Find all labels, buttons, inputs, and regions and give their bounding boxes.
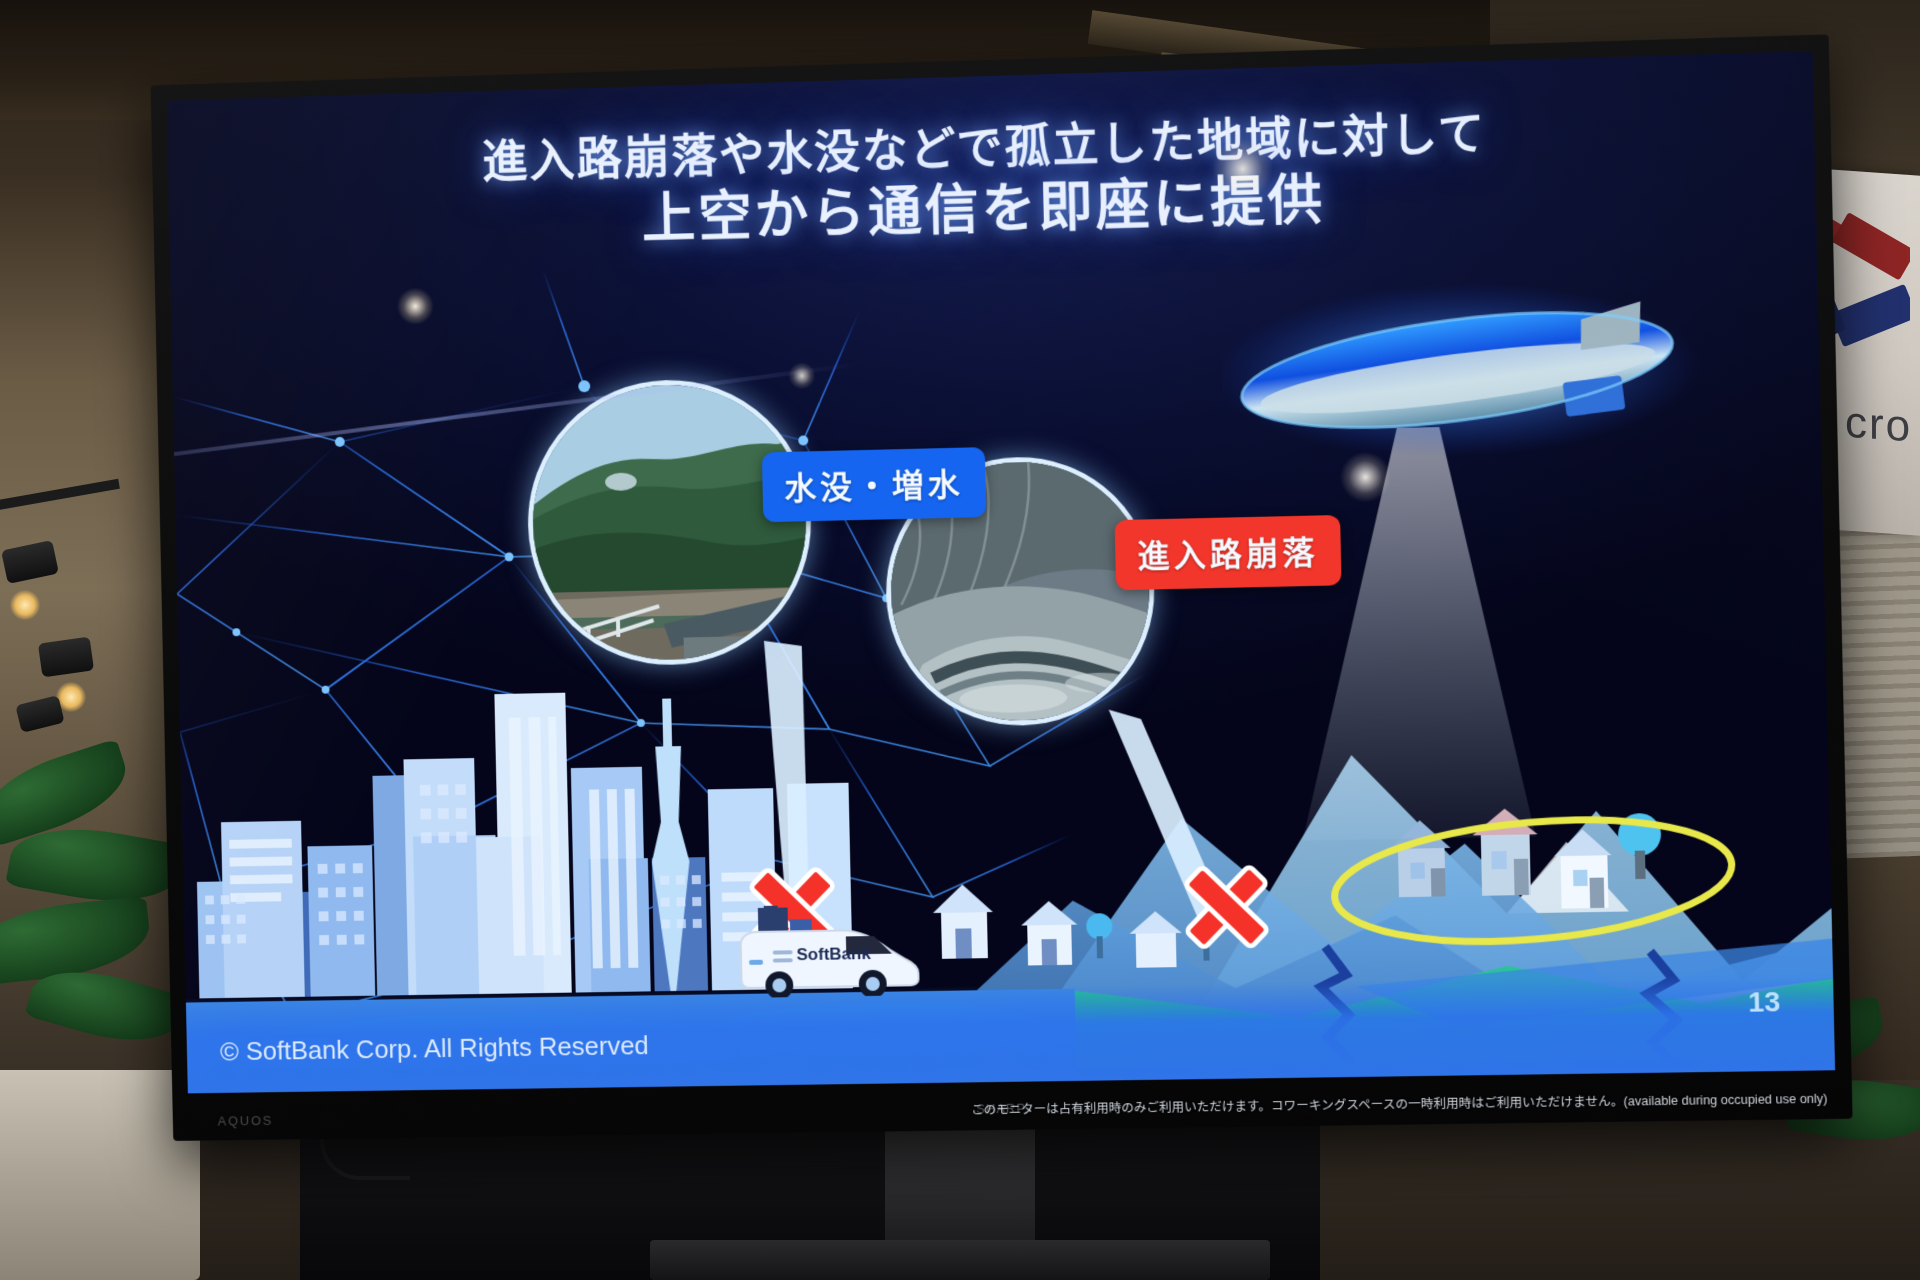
tv-stand-neck: [885, 1128, 1035, 1246]
isolated-village-highlight: [1318, 806, 1748, 955]
track-light-rail: [0, 479, 120, 511]
badge-flood[interactable]: 水没・増水: [762, 447, 986, 522]
blocked-route-marker-2: [1172, 853, 1281, 961]
track-lamp: [1, 540, 59, 584]
lamp-glow: [10, 590, 40, 620]
van-label: SoftBank: [796, 944, 871, 965]
television: 進入路崩落や水没などで孤立した地域に対して 上空から通信を即座に提供: [150, 60, 1830, 1130]
track-lamp: [38, 637, 94, 678]
copyright-text: © SoftBank Corp. All Rights Reserved: [220, 1030, 649, 1067]
tv-brand-badge: AQUOS: [218, 1113, 274, 1129]
badge-road[interactable]: 進入路崩落: [1115, 515, 1342, 590]
softbank-logo-icon: [773, 949, 793, 965]
track-lamp: [15, 695, 64, 733]
tv-bezel: 進入路崩落や水没などで孤立した地域に対して 上空から通信を即座に提供: [151, 34, 1853, 1141]
page-number: 13: [1748, 986, 1781, 1019]
slide-screen: 進入路崩落や水没などで孤立した地域に対して 上空から通信を即座に提供: [166, 51, 1835, 1093]
wall-sign-text: cro: [1845, 398, 1912, 453]
tv-stand-base: [650, 1240, 1270, 1280]
satellite-relay-van: SoftBank: [734, 903, 925, 998]
monitor-usage-notice: このモニターは占有利用時のみご利用いただけます。コワーキングスペースの一時利用時…: [971, 1088, 1828, 1119]
flood-photo: [530, 382, 809, 663]
